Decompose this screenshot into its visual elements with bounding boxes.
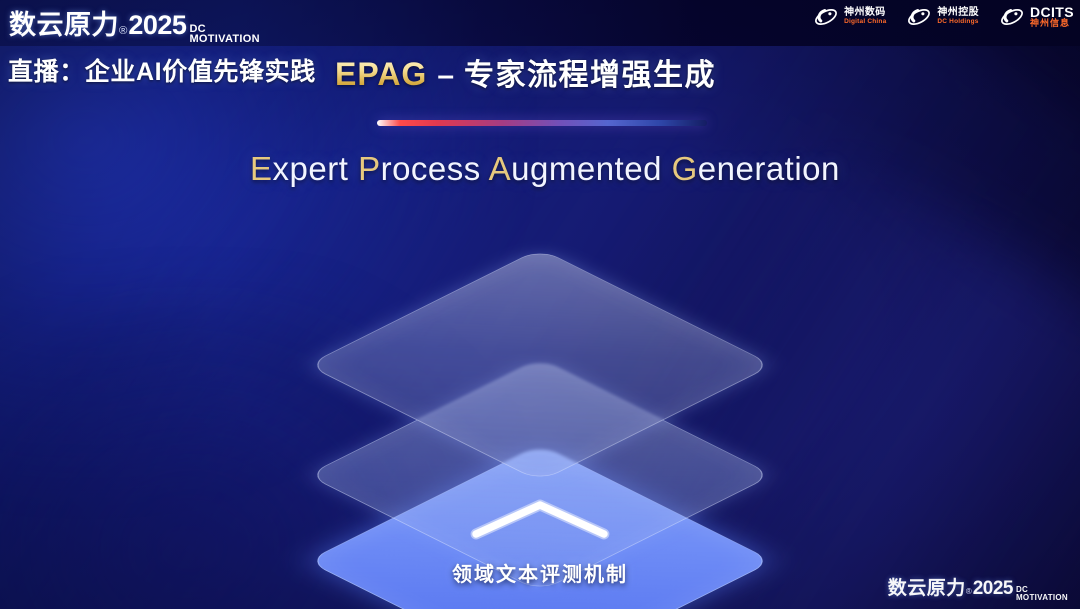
event-logo-watermark: 数云原力 ® 2025 DC MOTIVATION xyxy=(888,573,1068,603)
partner-logo-group: 神州数码 Digital China 神州控股 DC Holdings xyxy=(813,4,1074,30)
partner-logo-dcits: DCITS 神州信息 xyxy=(999,4,1074,30)
brand-name-cn: 数云原力 xyxy=(9,3,119,42)
layer-stack-diagram: 领域文本评测机制 Dynamic MOE 长文本记忆 三类语义建模模块 xyxy=(288,228,792,588)
swirl-icon xyxy=(813,4,839,30)
event-logo-top: 数云原力 ® 2025 DC MOTIVATION xyxy=(9,3,260,46)
slide-canvas: 数云原力 ® 2025 DC MOTIVATION 直播：企业AI价值先锋实践 … xyxy=(0,0,1080,609)
partner-text-block: 神州控股 DC Holdings xyxy=(937,8,979,25)
swirl-icon xyxy=(906,4,932,30)
partner-name-en: Digital China xyxy=(844,19,886,26)
subtitle-part: P xyxy=(358,150,381,187)
subtitle-part: xpert xyxy=(273,150,359,187)
slide-title: EPAG – 专家流程增强生成 xyxy=(335,50,716,94)
brand-motivation-text: MOTIVATION xyxy=(1016,594,1068,601)
subtitle-part: A xyxy=(489,150,512,187)
layer-label-top: 领域文本评测机制 xyxy=(452,558,628,587)
brand-year: 2025 xyxy=(128,10,186,41)
brand-dc-motivation: DC MOTIVATION xyxy=(1016,586,1068,601)
registered-mark: ® xyxy=(119,25,127,37)
partner-text-block: 神州数码 Digital China xyxy=(844,8,886,25)
subtitle-part: E xyxy=(250,150,273,187)
chevron-up-icon xyxy=(468,496,612,542)
partner-logo-dc-holdings: 神州控股 DC Holdings xyxy=(906,4,979,30)
partner-name-en: 神州信息 xyxy=(1030,19,1074,28)
title-acronym: EPAG xyxy=(335,56,427,93)
brand-name-cn: 数云原力 xyxy=(888,573,966,600)
swirl-icon xyxy=(999,4,1025,30)
brand-dc-motivation: DC MOTIVATION xyxy=(189,24,259,44)
partner-name-en: DC Holdings xyxy=(937,19,979,26)
registered-mark: ® xyxy=(966,587,972,596)
subtitle-part: ugmented xyxy=(511,150,671,187)
brand-year: 2025 xyxy=(973,578,1013,600)
subtitle-part: eneration xyxy=(698,150,840,187)
subtitle-part: G xyxy=(672,150,698,187)
partner-logo-digital-china: 神州数码 Digital China xyxy=(813,4,886,30)
slide-subtitle: Expert Process Augmented Generation xyxy=(250,150,840,188)
title-chinese: 专家流程增强生成 xyxy=(464,50,716,94)
partner-text-block: DCITS 神州信息 xyxy=(1030,5,1074,28)
brand-motivation-text: MOTIVATION xyxy=(189,34,259,44)
title-divider-bar xyxy=(377,120,707,126)
live-session-label: 直播：企业AI价值先锋实践 xyxy=(8,52,316,88)
title-dash: – xyxy=(433,59,458,93)
subtitle-part: rocess xyxy=(381,150,489,187)
